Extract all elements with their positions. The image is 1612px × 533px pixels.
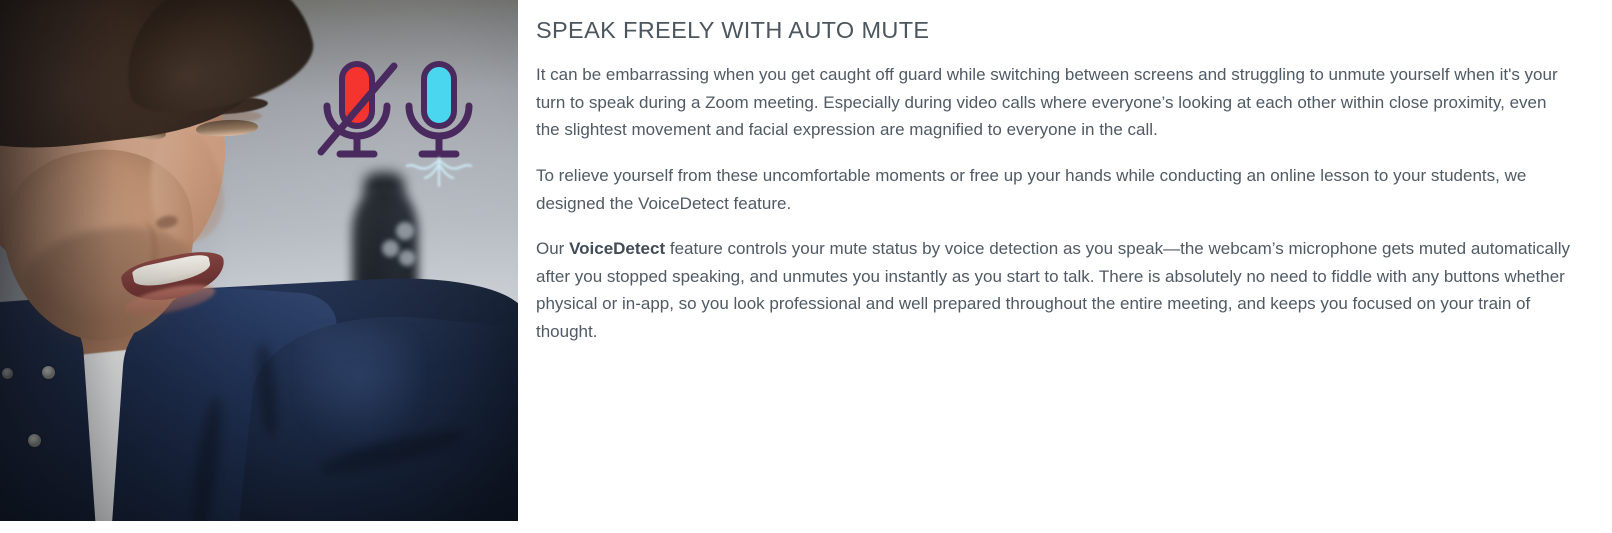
paragraph-voicedetect: Our VoiceDetect feature controls your mu…: [536, 235, 1571, 345]
page-title: SPEAK FREELY WITH AUTO MUTE: [536, 16, 1576, 45]
paragraph-lead: Our: [536, 239, 569, 258]
mic-overlay-group: [312, 58, 498, 188]
feature-section: SPEAK FREELY WITH AUTO MUTE It can be em…: [0, 0, 1612, 533]
paragraph-intro: It can be embarrassing when you get caug…: [536, 61, 1571, 144]
feature-text-column: SPEAK FREELY WITH AUTO MUTE It can be em…: [536, 0, 1576, 345]
paragraph-rest: feature controls your mute status by voi…: [536, 239, 1570, 341]
paragraph-relief: To relieve yourself from these uncomfort…: [536, 162, 1571, 217]
sound-wave-lines: [407, 158, 471, 186]
voicedetect-emphasis: VoiceDetect: [569, 239, 665, 258]
microphone-active-icon: [407, 64, 471, 186]
microphone-muted-icon: [321, 64, 394, 154]
feature-photo: [0, 0, 518, 521]
